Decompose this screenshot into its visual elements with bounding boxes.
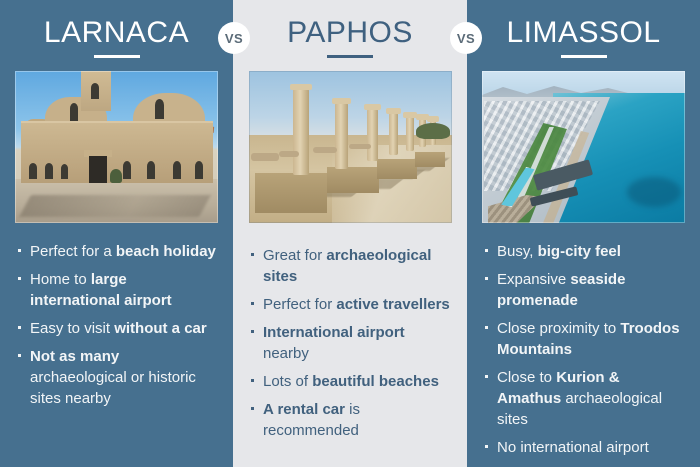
- bullet-text: Home to: [30, 271, 91, 288]
- list-item: Close to Kurion & Amathus archaeological…: [483, 367, 686, 430]
- list-item: Perfect for active travellers: [249, 294, 453, 315]
- church-window: [70, 103, 78, 121]
- bullet-text: Lots of: [263, 373, 312, 390]
- panel-paphos: PAPHOS: [233, 0, 467, 467]
- vs-badge-right: VS: [450, 22, 482, 54]
- ruins-wall: [327, 167, 379, 193]
- title-block-larnaca: LARNACA: [0, 0, 233, 66]
- church-door: [89, 156, 107, 183]
- church-window: [155, 99, 164, 119]
- bullet-text: Busy,: [497, 243, 538, 260]
- list-item: Perfect for a beach holiday: [16, 241, 219, 262]
- vs-badge-label: VS: [457, 31, 475, 46]
- page-title-limassol: LIMASSOL: [506, 16, 660, 50]
- bullet-emphasis: Not as many: [30, 348, 119, 365]
- limassol-photo-scene: [482, 71, 685, 223]
- bullet-emphasis: beautiful beaches: [312, 373, 439, 390]
- bullet-text: archaeological or historic sites nearby: [30, 369, 196, 407]
- church-window: [123, 161, 131, 179]
- list-item: Lots of beautiful beaches: [249, 371, 453, 392]
- vs-badge-label: VS: [225, 31, 243, 46]
- stone-column: [367, 109, 378, 161]
- vs-badge-left: VS: [218, 22, 250, 54]
- larnaca-photo-scene: [15, 71, 218, 223]
- bullet-text: nearby: [263, 345, 309, 362]
- paphos-photo-scene: [249, 71, 452, 223]
- panel-limassol: LIMASSOL Busy, big-city feel E: [467, 0, 700, 467]
- list-item: No international airport: [483, 437, 686, 458]
- title-underline-limassol: [561, 55, 607, 58]
- stone-column: [335, 103, 348, 169]
- bullet-emphasis: big-city feel: [538, 243, 621, 260]
- list-item: Busy, big-city feel: [483, 241, 686, 262]
- bullet-emphasis: without a car: [114, 320, 207, 337]
- bullet-text: Expansive: [497, 271, 570, 288]
- ruins-wall: [255, 173, 327, 213]
- larnaca-church-photo: [15, 71, 218, 223]
- tower-window: [91, 83, 99, 99]
- title-underline-larnaca: [94, 55, 140, 58]
- list-item: Not as many archaeological or historic s…: [16, 346, 219, 409]
- church-window: [147, 161, 155, 179]
- page-title-paphos: PAPHOS: [287, 16, 413, 50]
- shrub: [110, 169, 122, 183]
- plaza-shadow: [19, 195, 211, 217]
- church-window: [61, 164, 68, 179]
- bullet-list-limassol: Busy, big-city feel Expansive seaside pr…: [483, 241, 686, 458]
- bullet-text: Close proximity to: [497, 320, 620, 337]
- title-underline-paphos: [327, 55, 373, 58]
- title-block-paphos: PAPHOS: [233, 0, 467, 66]
- bullet-list-larnaca: Perfect for a beach holiday Home to larg…: [16, 241, 219, 409]
- ruins-wall: [415, 152, 445, 167]
- ruins-rubble: [279, 151, 299, 157]
- limassol-coastline-photo: [482, 71, 685, 223]
- bullet-emphasis: International airport: [263, 324, 405, 341]
- bullet-text: Great for: [263, 247, 326, 264]
- list-item: Easy to visit without a car: [16, 318, 219, 339]
- bullet-text: No international airport: [497, 439, 649, 456]
- bullet-emphasis: A rental car: [263, 401, 345, 418]
- title-block-limassol: LIMASSOL: [467, 0, 700, 66]
- stone-column: [293, 89, 309, 175]
- bullet-text: Perfect for a: [30, 243, 116, 260]
- bullet-list-paphos: Great for archaeological sites Perfect f…: [249, 245, 453, 441]
- bullet-text: Close to: [497, 369, 556, 386]
- church-window: [29, 163, 37, 179]
- list-item: A rental car is recommended: [249, 399, 453, 441]
- list-item: Great for archaeological sites: [249, 245, 453, 287]
- list-item: Expansive seaside promenade: [483, 269, 686, 311]
- church-window: [45, 163, 53, 179]
- stone-column: [389, 113, 398, 155]
- ruins-wall: [377, 159, 417, 179]
- church-window: [195, 161, 203, 179]
- church-window: [173, 161, 181, 179]
- bullet-emphasis: active travellers: [336, 296, 449, 313]
- ruins-rubble: [349, 144, 371, 149]
- list-item: Close proximity to Troodos Mountains: [483, 318, 686, 360]
- comparison-infographic: LARNACA: [0, 0, 700, 467]
- stone-column: [406, 117, 414, 151]
- bullet-text: Perfect for: [263, 296, 336, 313]
- paphos-columns-photo: [249, 71, 452, 223]
- page-title-larnaca: LARNACA: [44, 16, 189, 50]
- panel-larnaca: LARNACA: [0, 0, 233, 467]
- list-item: International airport nearby: [249, 322, 453, 364]
- sea-deep-patch: [627, 177, 681, 207]
- bullet-text: Easy to visit: [30, 320, 114, 337]
- list-item: Home to large international airport: [16, 269, 219, 311]
- ruins-rubble: [251, 153, 279, 161]
- bullet-emphasis: beach holiday: [116, 243, 216, 260]
- tree: [416, 123, 450, 139]
- ruins-rubble: [313, 147, 337, 153]
